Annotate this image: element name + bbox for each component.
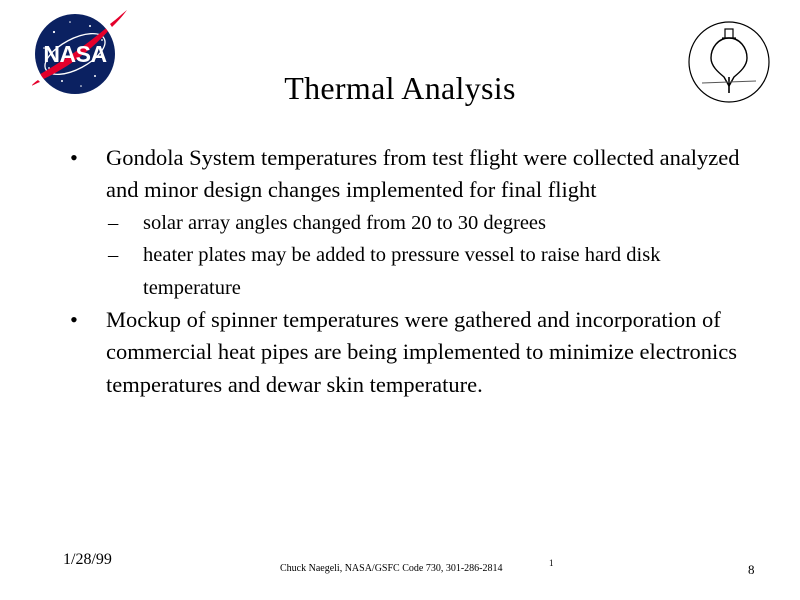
footer-credit: Chuck Naegeli, NASA/GSFC Code 730, 301-2… bbox=[280, 562, 503, 575]
sub-bullet-text: solar array angles changed from 20 to 30… bbox=[143, 207, 752, 239]
slide-body: • Gondola System temperatures from test … bbox=[62, 142, 752, 401]
sub-bullet-item: – heater plates may be added to pressure… bbox=[62, 239, 752, 304]
sub-bullet-marker: – bbox=[108, 207, 118, 239]
sub-bullet-item: – solar array angles changed from 20 to … bbox=[62, 207, 752, 239]
bullet-item: • Gondola System temperatures from test … bbox=[62, 142, 752, 207]
footer-page-number: 8 bbox=[748, 562, 755, 578]
balloon-valve-icon bbox=[725, 29, 733, 38]
bullet-text: Mockup of spinner temperatures were gath… bbox=[106, 304, 752, 401]
bullet-marker: • bbox=[70, 142, 78, 174]
footer-date: 1/28/99 bbox=[63, 550, 112, 570]
bullet-text: Gondola System temperatures from test fl… bbox=[106, 142, 752, 207]
slide-title: Thermal Analysis bbox=[0, 68, 800, 108]
presentation-slide: NASA Thermal Analysis • Gondola System t… bbox=[0, 0, 800, 600]
footer-note-marker: 1 bbox=[549, 558, 554, 569]
bullet-marker: • bbox=[70, 304, 78, 336]
nasa-wordmark: NASA bbox=[43, 41, 106, 67]
sub-bullet-text: heater plates may be added to pressure v… bbox=[143, 239, 752, 304]
sub-bullet-marker: – bbox=[108, 239, 118, 271]
bullet-item: • Mockup of spinner temperatures were ga… bbox=[62, 304, 752, 401]
